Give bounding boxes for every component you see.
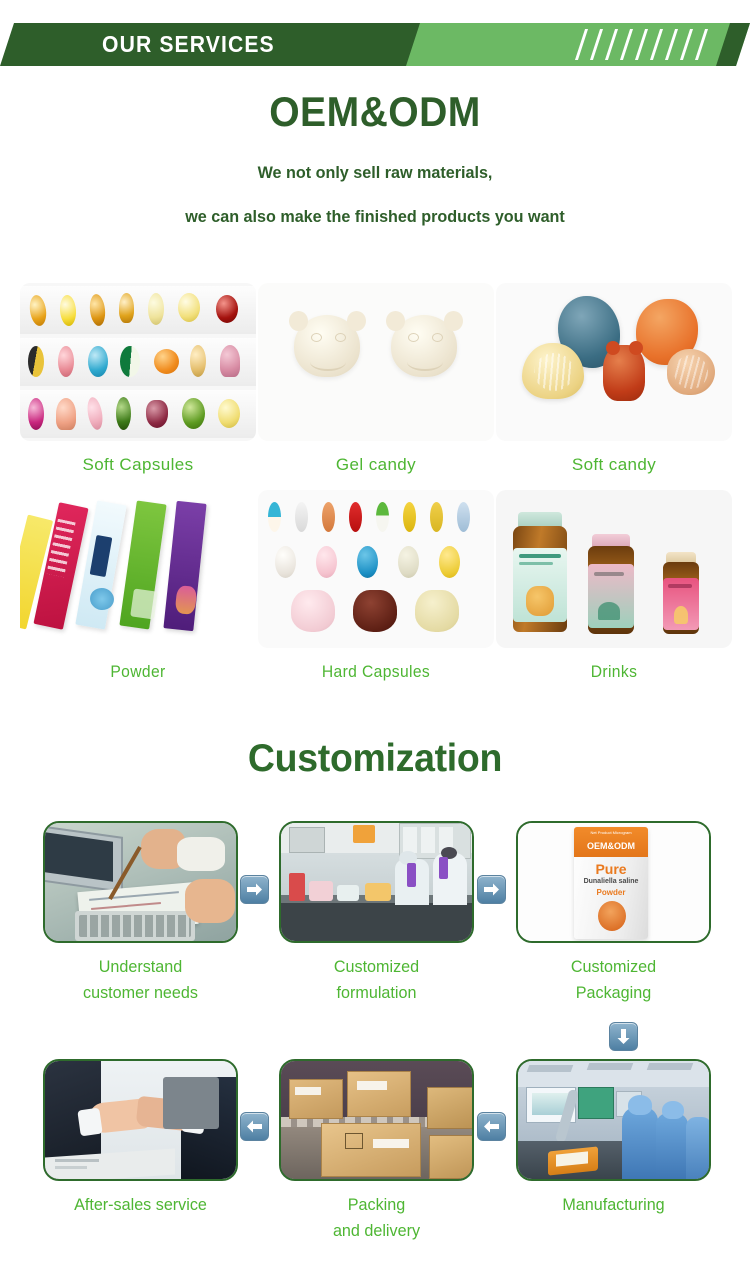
soft-candy-photo: [496, 283, 732, 441]
product-label: Drinks: [505, 662, 722, 682]
meeting-notes-laptop-photo: [43, 821, 238, 943]
hard-capsules-photo: [258, 490, 494, 648]
step-card-customized-packaging[interactable]: Net Product Microgram OEM&ODM Pure Dunal…: [516, 821, 711, 1006]
pouch-brand: OEM&ODM: [574, 841, 648, 851]
step-card-understand-customer-needs[interactable]: Understand customer needs: [43, 821, 238, 1006]
banner-title: OUR SERVICES: [102, 23, 275, 66]
arrow-step6-to-step5[interactable]: [477, 1112, 506, 1141]
product-label: Gel candy: [258, 455, 494, 475]
powder-photo: [20, 490, 256, 648]
pouch-packaging-photo: Net Product Microgram OEM&ODM Pure Dunal…: [516, 821, 711, 943]
pouch-ingredient: Dunaliella saline: [574, 878, 648, 885]
step-card-packing-and-delivery[interactable]: Packing and delivery: [279, 1059, 474, 1244]
step-label-line1: Packing: [284, 1192, 469, 1218]
product-label: Powder: [29, 662, 246, 682]
arrow-down-icon: [614, 1027, 633, 1046]
cartons-conveyor-photo: [279, 1059, 474, 1181]
product-label: Soft Capsules: [20, 455, 256, 475]
arrow-step3-to-step6[interactable]: [609, 1022, 638, 1051]
step-label-line2: Packaging: [521, 980, 706, 1006]
step-label-line2: formulation: [284, 980, 469, 1006]
pouch-form: Powder: [574, 888, 648, 897]
product-card-powder[interactable]: Powder: [20, 490, 256, 682]
page-title-oem-odm: OEM&ODM: [26, 88, 724, 136]
step-label: Packing and delivery: [284, 1192, 469, 1244]
soft-capsules-photo: [20, 283, 256, 441]
step-label-line2: customer needs: [48, 980, 233, 1006]
services-page: OUR SERVICES OEM&ODM We not only sell ra…: [0, 0, 750, 1266]
step-label-line2: and delivery: [284, 1218, 469, 1244]
product-card-soft-capsules[interactable]: Soft Capsules: [20, 283, 256, 475]
step-label-line1: After-sales service: [48, 1192, 233, 1218]
subtitle-line-1: We not only sell raw materials,: [19, 163, 732, 183]
arrow-step2-to-step3[interactable]: [477, 875, 506, 904]
step-label: Understand customer needs: [48, 954, 233, 1006]
step-card-customized-formulation[interactable]: Customized formulation: [279, 821, 474, 1006]
arrow-right-icon: [482, 880, 501, 899]
product-card-gel-candy[interactable]: Gel candy: [258, 283, 494, 475]
step-card-manufacturing[interactable]: Manufacturing: [516, 1059, 711, 1218]
factory-line-photo: [516, 1059, 711, 1181]
product-card-hard-capsules[interactable]: Hard Capsules: [258, 490, 494, 682]
arrow-right-icon: [245, 880, 264, 899]
step-label: Customized formulation: [284, 954, 469, 1006]
step-label-line1: Manufacturing: [521, 1192, 706, 1218]
arrow-left-icon: [245, 1117, 264, 1136]
banner-stripes-decoration: [580, 29, 705, 60]
pouch-name: Pure: [574, 861, 648, 877]
laboratory-scientists-photo: [279, 821, 474, 943]
drinks-photo: [496, 490, 732, 648]
gel-candy-photo: [258, 283, 494, 441]
step-label: After-sales service: [48, 1192, 233, 1218]
arrow-step5-to-step4[interactable]: [240, 1112, 269, 1141]
step-label-line1: Customized: [284, 954, 469, 980]
subtitle-line-2: we can also make the finished products y…: [19, 207, 732, 227]
handshake-photo: [43, 1059, 238, 1181]
step-card-after-sales-service[interactable]: After-sales service: [43, 1059, 238, 1218]
step-label-line1: Understand: [48, 954, 233, 980]
product-card-drinks[interactable]: Drinks: [496, 490, 732, 682]
product-card-soft-candy[interactable]: Soft candy: [496, 283, 732, 475]
section-title-customization: Customization: [15, 737, 735, 781]
arrow-left-icon: [482, 1117, 501, 1136]
product-label: Hard Capsules: [267, 662, 484, 682]
section-banner: OUR SERVICES: [0, 23, 750, 66]
step-label: Customized Packaging: [521, 954, 706, 1006]
step-label: Manufacturing: [521, 1192, 706, 1218]
step-label-line1: Customized: [521, 954, 706, 980]
pouch-top-text: Net Product Microgram: [576, 830, 646, 835]
product-label: Soft candy: [496, 455, 732, 475]
arrow-step1-to-step2[interactable]: [240, 875, 269, 904]
